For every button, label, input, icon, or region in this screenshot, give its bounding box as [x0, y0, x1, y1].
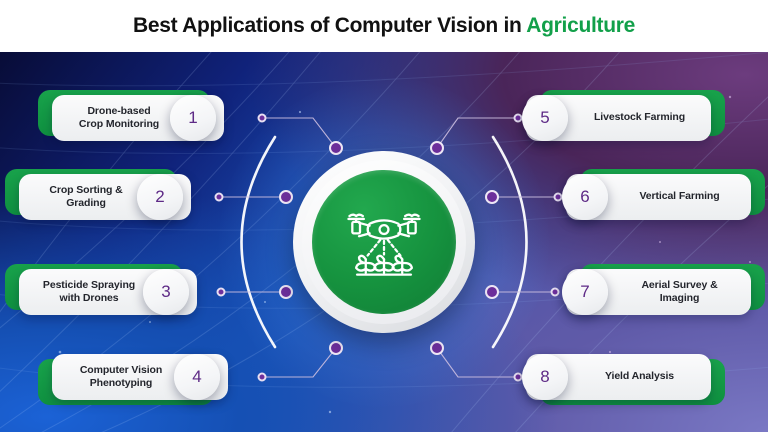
- infographic-canvas: Drone-basedCrop Monitoring 1 Crop Sortin…: [0, 52, 768, 432]
- item-number-5: 5: [522, 95, 568, 141]
- item-number-7: 7: [562, 269, 608, 315]
- item-card-7[interactable]: Aerial Survey &Imaging 7: [566, 269, 751, 315]
- card-dot-1: [258, 114, 267, 123]
- item-card-2[interactable]: Crop Sorting &Grading 2: [5, 174, 177, 220]
- item-number-6: 6: [562, 174, 608, 220]
- item-number-3: 3: [143, 269, 189, 315]
- card-dot-4: [258, 373, 267, 382]
- center-emblem: [293, 151, 475, 333]
- header-bar: Best Applications of Computer Vision in …: [0, 0, 768, 52]
- item-card-5[interactable]: Livestock Farming 5: [526, 95, 711, 141]
- item-number-2: 2: [137, 174, 183, 220]
- page-title-main: Best Applications of Computer Vision in: [133, 14, 526, 37]
- page-title-accent: Agriculture: [526, 14, 635, 37]
- item-card-6[interactable]: Vertical Farming 6: [566, 174, 751, 220]
- infographic-page: Best Applications of Computer Vision in …: [0, 0, 768, 432]
- item-number-8: 8: [522, 354, 568, 400]
- center-green-circle: [312, 170, 456, 314]
- item-card-8[interactable]: Yield Analysis 8: [526, 354, 711, 400]
- item-number-4: 4: [174, 354, 220, 400]
- item-card-4[interactable]: Computer VisionPhenotyping 4: [38, 354, 214, 400]
- card-dot-3: [217, 288, 226, 297]
- item-card-3[interactable]: Pesticide Sprayingwith Drones 3: [5, 269, 183, 315]
- item-card-1[interactable]: Drone-basedCrop Monitoring 1: [38, 95, 210, 141]
- drone-spraying-crops-icon: [336, 194, 432, 290]
- page-title: Best Applications of Computer Vision in …: [133, 14, 635, 38]
- item-number-1: 1: [170, 95, 216, 141]
- card-dot-2: [215, 193, 224, 202]
- card-dot-7: [551, 288, 560, 297]
